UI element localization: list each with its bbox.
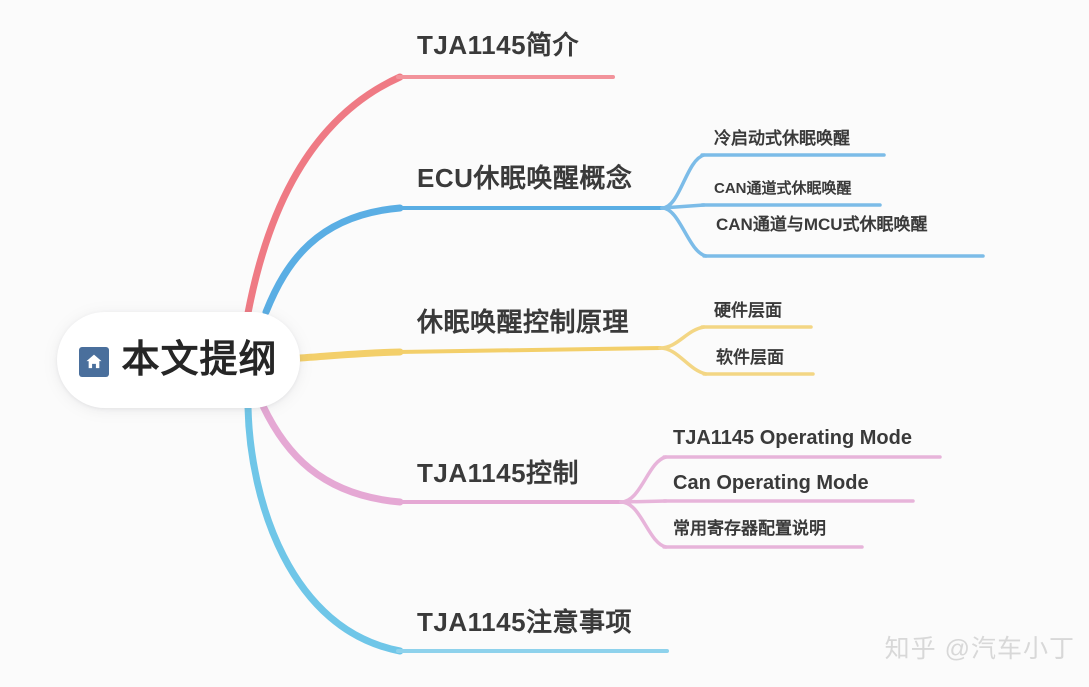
sub-node-can-operating-mode[interactable]: Can Operating Mode bbox=[673, 472, 869, 495]
sub-node-tja1145-operating-mode[interactable]: TJA1145 Operating Mode bbox=[673, 427, 912, 450]
watermark: 知乎 @汽车小丁 bbox=[885, 629, 1075, 665]
branch-label: TJA1145注意事项 bbox=[417, 608, 632, 638]
edge-to-ecu-sleep-wake bbox=[266, 208, 400, 312]
branch-node-tja1145-notes[interactable]: TJA1145注意事项 bbox=[417, 608, 632, 638]
branch-node-tja1145-control[interactable]: TJA1145控制 bbox=[417, 459, 579, 489]
edge-to-tja1145-control bbox=[263, 406, 400, 502]
branch-label: TJA1145简介 bbox=[417, 31, 579, 61]
sub-node-can-mcu-wake[interactable]: CAN通道与MCU式休眠唤醒 bbox=[716, 215, 928, 235]
branch-node-ecu-sleep-wake[interactable]: ECU休眠唤醒概念 bbox=[417, 164, 632, 194]
sub-node-hardware-layer[interactable]: 硬件层面 bbox=[714, 301, 782, 321]
sub-node-label: Can Operating Mode bbox=[673, 472, 869, 495]
root-node[interactable]: 本文提纲 bbox=[57, 312, 300, 408]
branch-label: 休眠唤醒控制原理 bbox=[417, 308, 629, 338]
sub-node-register-config[interactable]: 常用寄存器配置说明 bbox=[673, 519, 826, 539]
sub-node-label: 冷启动式休眠唤醒 bbox=[714, 129, 850, 149]
sub-node-label: CAN通道式休眠唤醒 bbox=[714, 180, 852, 197]
branch-label: TJA1145控制 bbox=[417, 459, 579, 489]
edge-ecu-child-2 bbox=[662, 205, 704, 208]
sub-node-label: 硬件层面 bbox=[714, 301, 782, 321]
sub-node-label: CAN通道与MCU式休眠唤醒 bbox=[716, 215, 928, 235]
edge-ctrl-child-1 bbox=[660, 327, 704, 348]
edge-ctrl-child-2 bbox=[660, 348, 706, 374]
sub-node-label: TJA1145 Operating Mode bbox=[673, 427, 912, 450]
sub-node-can-channel-wake[interactable]: CAN通道式休眠唤醒 bbox=[714, 180, 852, 197]
edge-ecu-child-3 bbox=[662, 208, 706, 256]
home-icon bbox=[79, 347, 109, 377]
edge-ecu-child-1 bbox=[662, 155, 704, 208]
sub-node-label: 常用寄存器配置说明 bbox=[673, 519, 826, 539]
edge-tja-child-2 bbox=[621, 501, 666, 502]
mindmap-canvas: 本文提纲 TJA1145简介 ECU休眠唤醒概念 休眠唤醒控制原理 TJA114… bbox=[0, 0, 1089, 687]
branch-node-intro[interactable]: TJA1145简介 bbox=[417, 31, 579, 61]
edge-to-tja1145-notes bbox=[248, 407, 400, 651]
edge-tja-child-1 bbox=[621, 457, 666, 502]
underline-control-principle bbox=[398, 348, 660, 352]
edge-to-control-principle bbox=[300, 352, 400, 358]
sub-node-software-layer[interactable]: 软件层面 bbox=[716, 348, 784, 368]
sub-node-cold-start-wake[interactable]: 冷启动式休眠唤醒 bbox=[714, 129, 850, 149]
edge-tja-child-3 bbox=[621, 502, 666, 547]
root-label: 本文提纲 bbox=[121, 341, 277, 379]
branch-label: ECU休眠唤醒概念 bbox=[417, 164, 632, 194]
branch-node-control-principle[interactable]: 休眠唤醒控制原理 bbox=[417, 308, 629, 338]
sub-node-label: 软件层面 bbox=[716, 348, 784, 368]
edge-to-intro bbox=[248, 77, 400, 313]
